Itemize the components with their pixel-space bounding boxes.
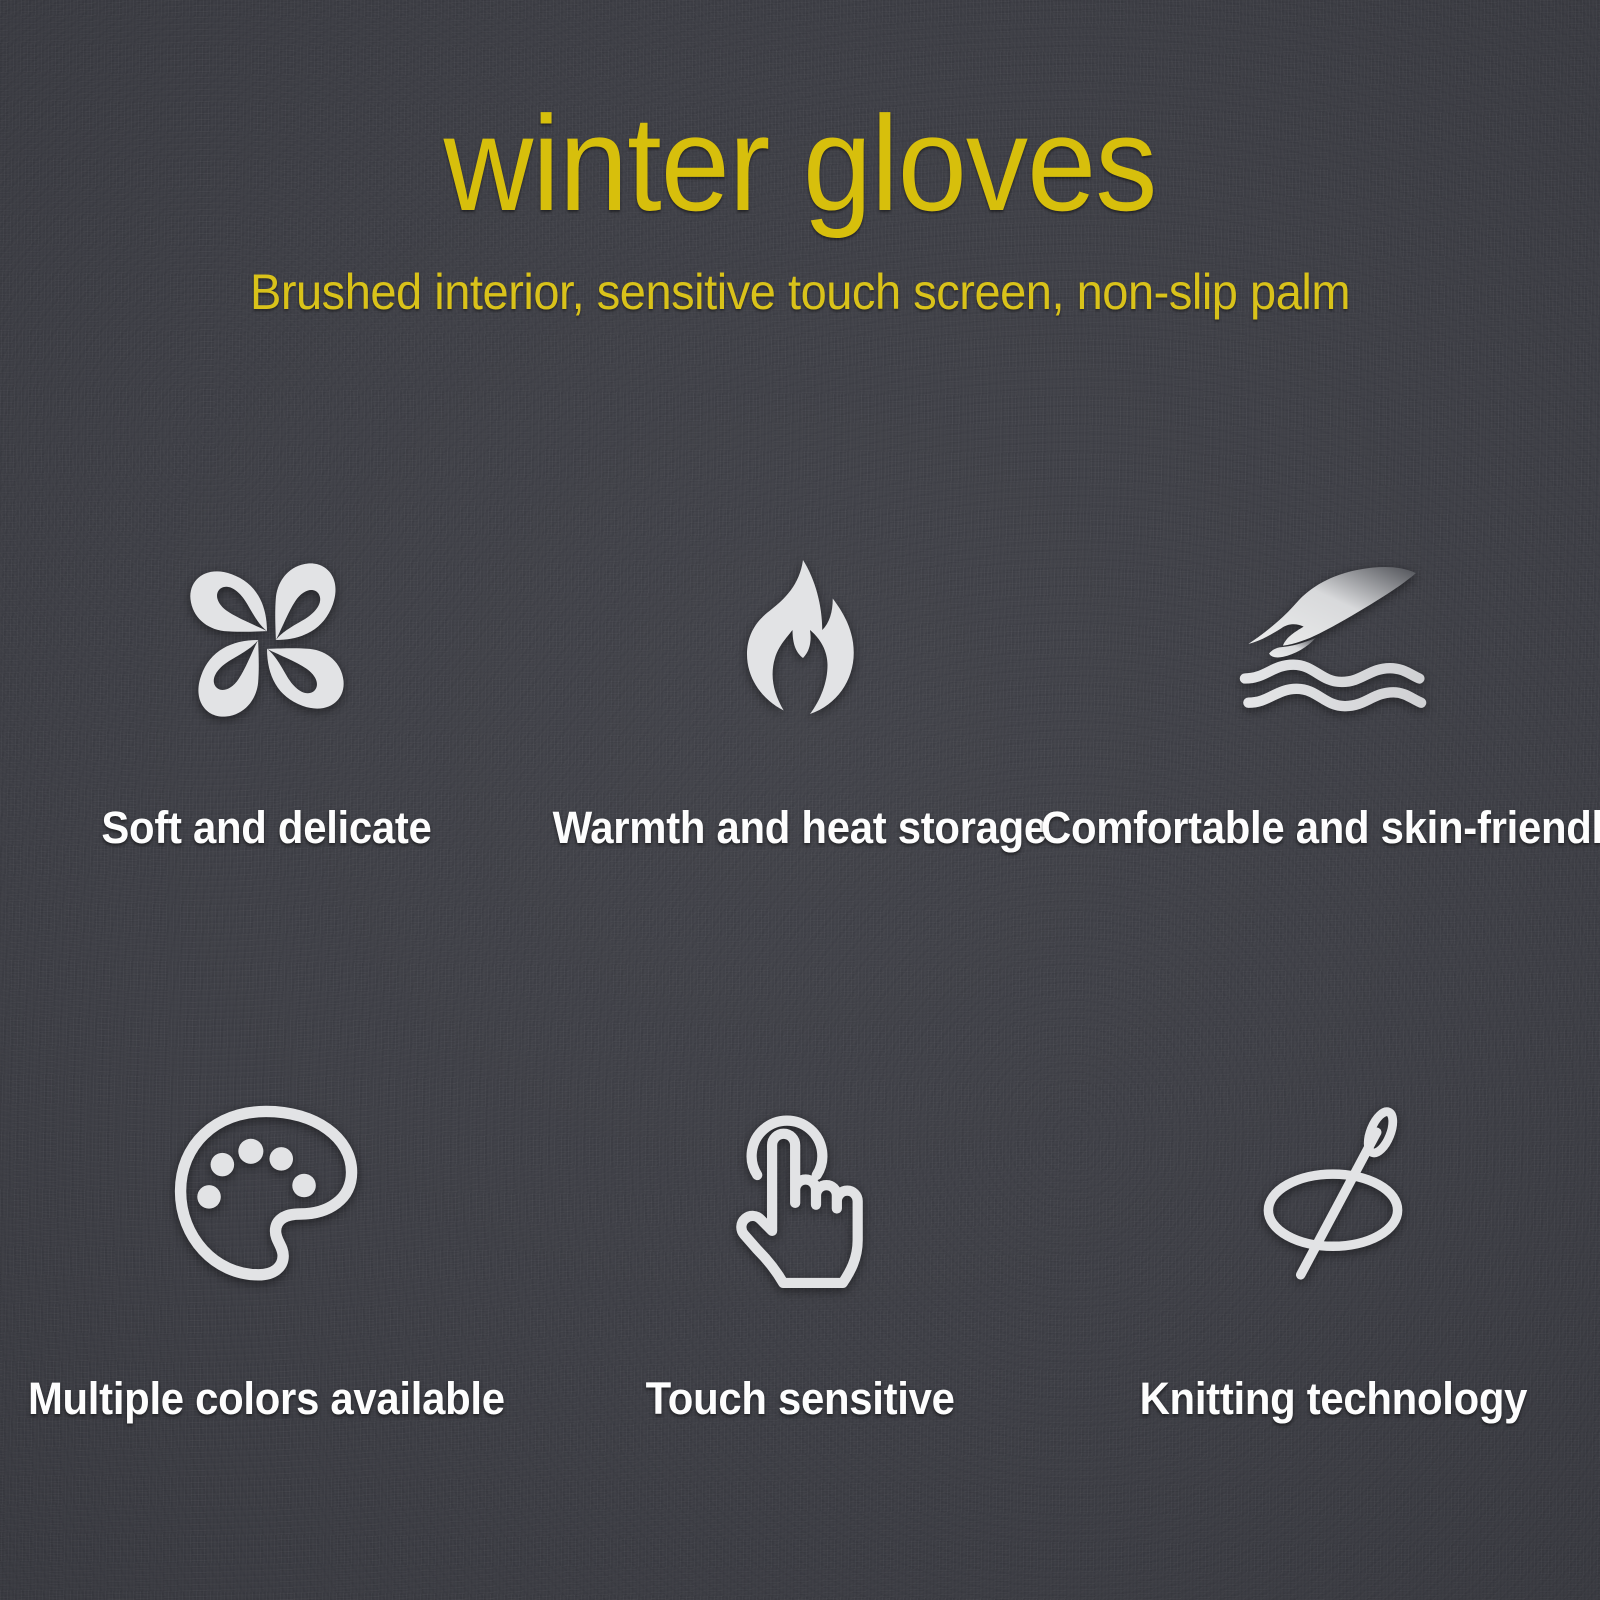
feature-item-multiple-colors-available: Multiple colors available [0, 1095, 533, 1435]
feature-label: Knitting technology [1140, 1373, 1528, 1425]
page-subtitle: Brushed interior, sensitive touch screen… [48, 265, 1552, 320]
feature-label: Soft and delicate [102, 802, 432, 854]
feature-row-top: Soft and delicate Warmth and heat storag… [0, 540, 1600, 870]
paint-palette-icon [167, 1095, 367, 1295]
hand-over-waves-icon [1238, 540, 1428, 740]
feature-label: Multiple colors available [28, 1373, 505, 1425]
flame-icon [712, 540, 887, 740]
feature-item-knitting-technology: Knitting technology [1067, 1095, 1600, 1435]
feature-label: Warmth and heat storage [553, 802, 1047, 854]
product-feature-poster: winter gloves Brushed interior, sensitiv… [0, 0, 1600, 1600]
feature-item-warmth-and-heat-storage: Warmth and heat storage [533, 540, 1066, 870]
touch-finger-icon [720, 1095, 880, 1295]
feature-item-soft-and-delicate: Soft and delicate [0, 540, 533, 870]
feature-label: Comfortable and skin-friendly [1041, 802, 1600, 854]
headline-block: winter gloves Brushed interior, sensitiv… [0, 96, 1600, 320]
feature-item-comfortable-and-skin-friendly: Comfortable and skin-friendly [1067, 540, 1600, 870]
feature-row-bottom: Multiple colors available Touch sensitiv… [0, 1095, 1600, 1435]
feature-item-touch-sensitive: Touch sensitive [533, 1095, 1066, 1435]
feature-label: Touch sensitive [645, 1373, 954, 1425]
needle-thread-icon [1238, 1095, 1428, 1295]
feature-grid: Soft and delicate Warmth and heat storag… [0, 540, 1600, 1435]
swirl-pinwheel-icon [178, 540, 356, 740]
page-title: winter gloves [64, 96, 1536, 231]
